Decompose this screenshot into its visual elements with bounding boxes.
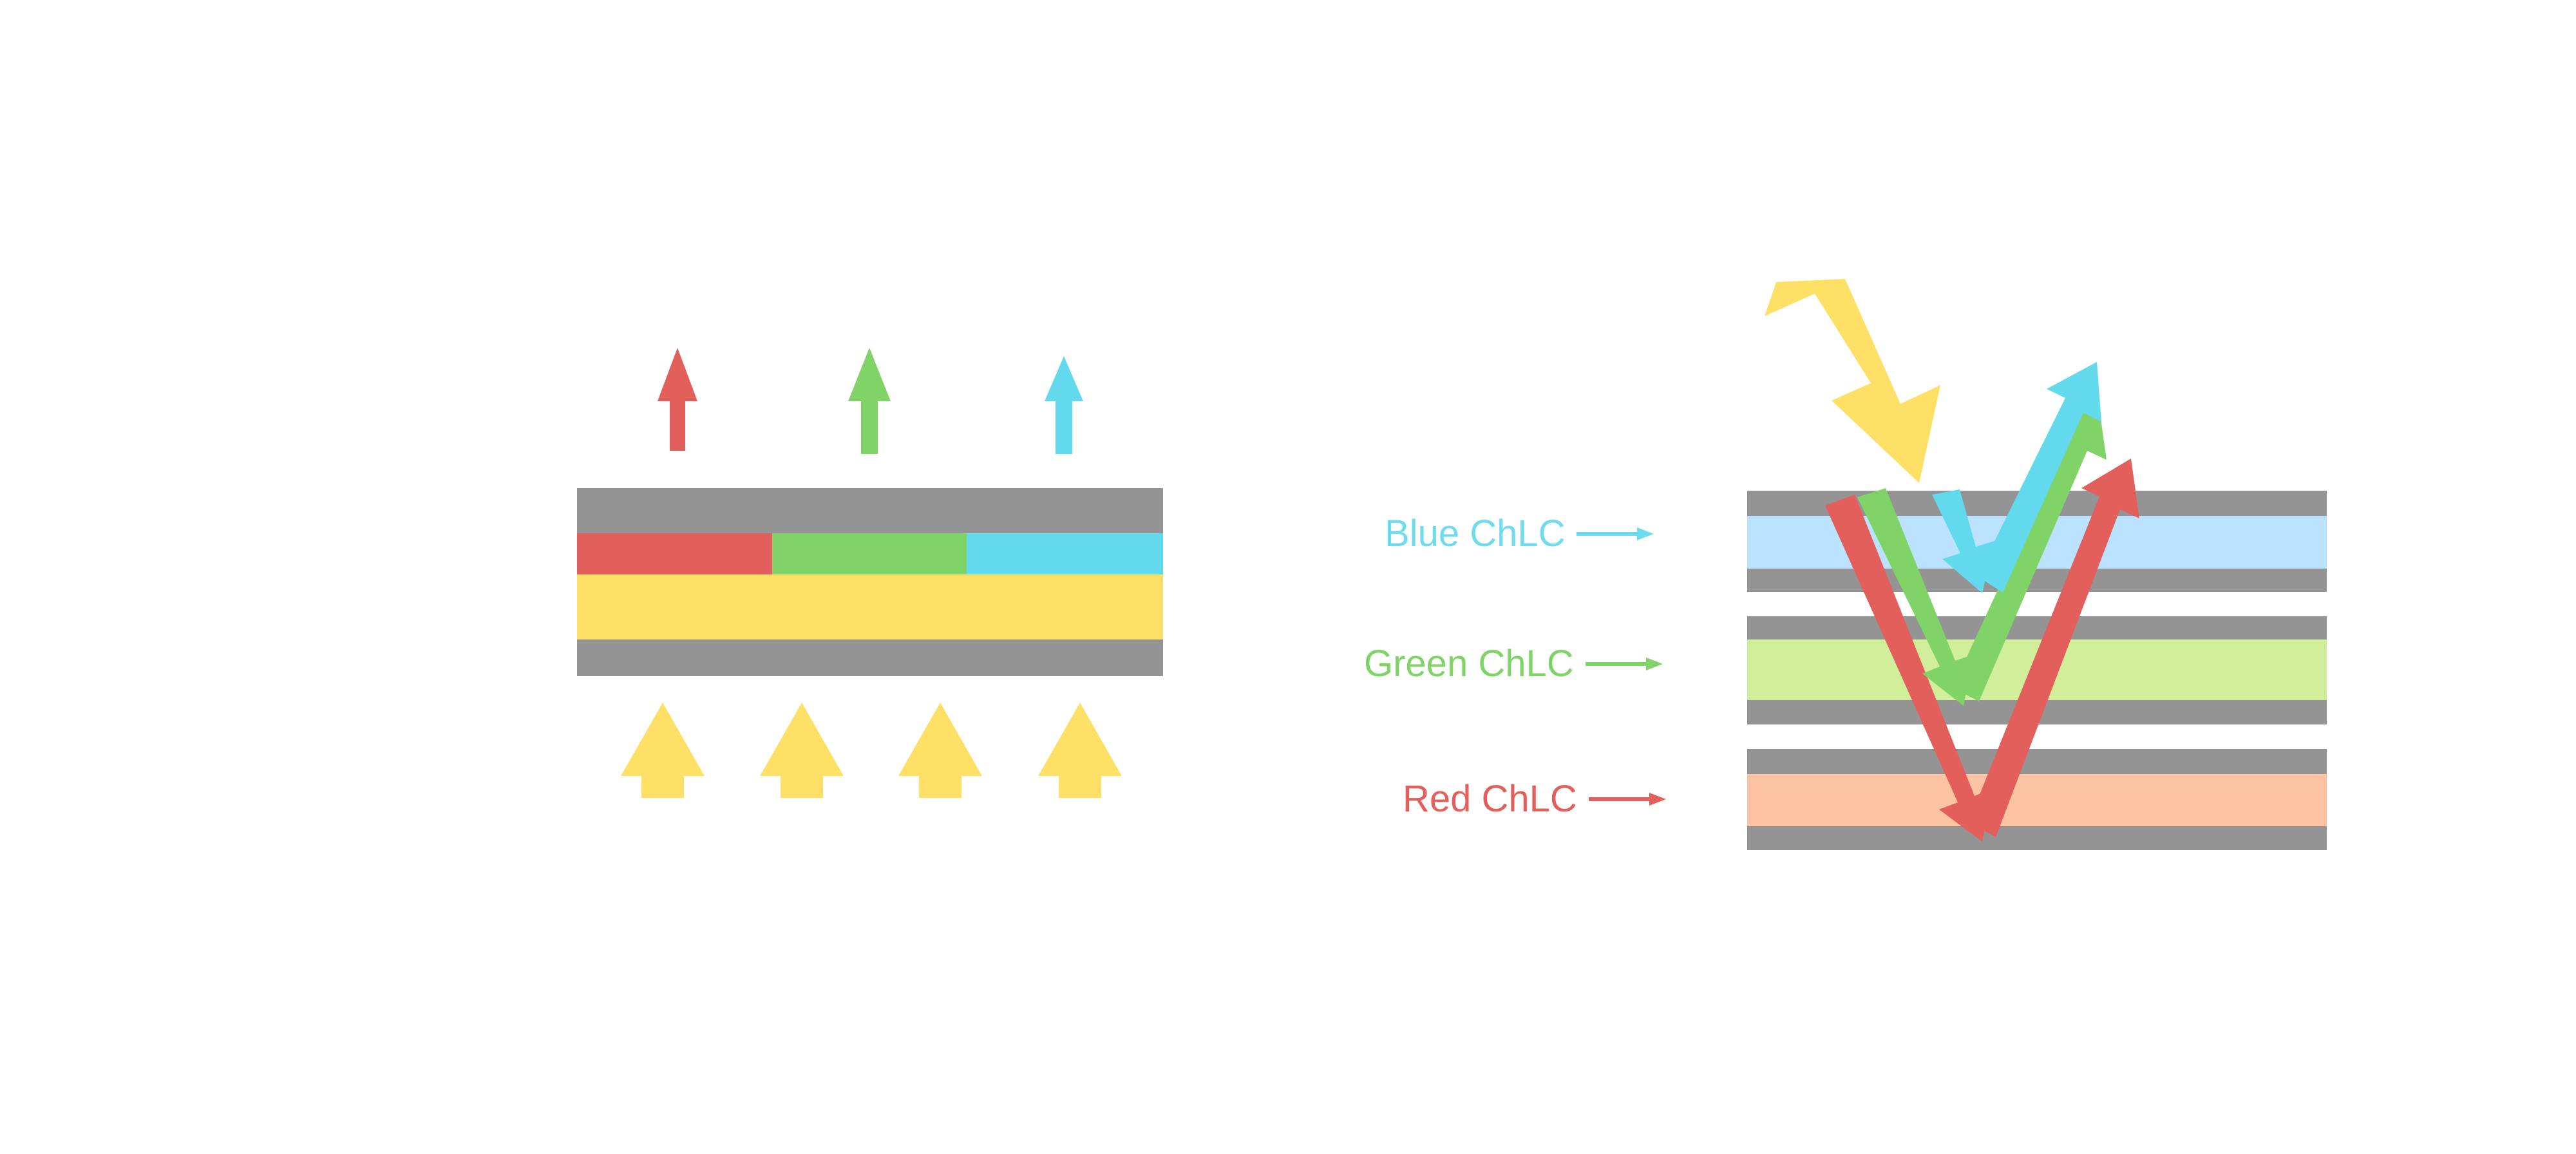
emissive-stack-diagram (0, 0, 1288, 1154)
green-bottom-electrode-layer (1747, 700, 2327, 724)
backlight-ray-1-icon (621, 703, 705, 798)
green-pointer-arrow-icon (1586, 654, 1663, 674)
green-chlc-layer (1747, 639, 2327, 700)
green-chlc-label: Green ChLC (1364, 645, 1574, 683)
backlight-ray-3-icon (898, 703, 982, 798)
blue-pointer-arrow-icon (1577, 524, 1654, 544)
green-chlc-label-row: Green ChLC (1364, 645, 1663, 683)
incident-white-light-arrow-icon (1765, 279, 1940, 483)
backlight-layer (577, 574, 1163, 639)
backlight-ray-2-icon (760, 703, 844, 798)
red-chlc-layer (1747, 774, 2327, 826)
blue-chlc-label: Blue ChLC (1385, 515, 1565, 553)
red-top-electrode-layer (1747, 749, 2327, 774)
figure-canvas: Blue ChLC Green ChLC Red ChLC (0, 0, 2576, 1154)
red-bottom-electrode-layer (1747, 826, 2327, 850)
backlight-ray-4-icon (1038, 703, 1122, 798)
red-chlc-label: Red ChLC (1403, 780, 1577, 818)
cyan-emitted-ray-icon (1045, 356, 1083, 454)
blue-chlc-layer (1747, 516, 2327, 569)
red-filter-band (577, 533, 772, 574)
green-top-electrode-layer (1747, 616, 2327, 639)
top-electrode-layer (577, 488, 1163, 533)
red-pointer-arrow-icon (1589, 790, 1666, 809)
reflective-chlc-stack-diagram: Blue ChLC Green ChLC Red ChLC (1288, 0, 2576, 1154)
cyan-filter-band (967, 533, 1163, 574)
green-filter-band (772, 533, 967, 574)
blue-chlc-label-row: Blue ChLC (1385, 515, 1654, 553)
green-emitted-ray-icon (848, 348, 891, 454)
emissive-layer-stack (577, 488, 1163, 676)
color-filter-row (577, 533, 1163, 574)
blue-bottom-electrode-layer (1747, 569, 2327, 592)
blue-top-electrode-layer (1747, 491, 2327, 516)
chlc-layer-stack (1747, 491, 2327, 865)
red-emitted-ray-icon (658, 348, 697, 451)
bottom-electrode-layer (577, 639, 1163, 676)
red-chlc-label-row: Red ChLC (1403, 780, 1666, 818)
